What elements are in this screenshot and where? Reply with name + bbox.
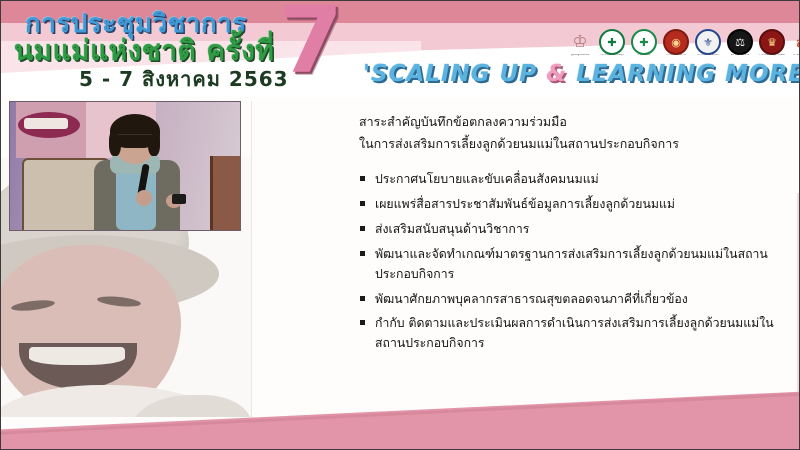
child-teeth [29, 347, 125, 365]
logo-caption: กระทรวงแรงงาน [663, 54, 689, 57]
logo-glyph: ⚜ [695, 29, 721, 55]
square-bullet-icon [360, 201, 365, 206]
conference-header-banner: 7 การประชุมวิชาการ นมแม่แห่งชาติ ครั้งที… [1, 1, 800, 97]
speaker-hand-left [136, 190, 152, 206]
logo-caption: กระทรวงมหาดไทย [695, 54, 721, 57]
speaker-glasses [118, 134, 152, 142]
list-item: เผยแพร่สื่อสารประชาสัมพันธ์ข้อมูลการเลี้… [359, 195, 779, 215]
list-item: พัฒนาและจัดทำเกณฑ์มาตรฐานการส่งเสริมการเ… [359, 245, 779, 285]
logo-ministry-public-health-icon: ✚กระทรวงสาธารณสุข [599, 28, 625, 56]
tagline-prefix: 'SCALING UP [363, 61, 546, 87]
conference-dates: 5 - 7 สิงหาคม 2563 [79, 63, 289, 95]
tagline-suffix: LEARNING MORE' [567, 61, 800, 87]
slide-canvas: สาระสำคัญบันทึกข้อตกลงความร่วมมือ ในการส… [1, 97, 800, 450]
armchair-right [210, 156, 241, 231]
logo-garuda-blue-icon: ⚜กระทรวงมหาดไทย [695, 28, 721, 56]
logo-caption: มูลนิธิศูนย์นมแม่ [567, 54, 593, 57]
list-item-text: เผยแพร่สื่อสารประชาสัมพันธ์ข้อมูลการเลี้… [375, 197, 675, 211]
logo-caption: ราชวิทยาลัยกุมารแพทย์ [759, 54, 785, 57]
list-item-text: ส่งเสริมสนับสนุนด้านวิชาการ [375, 222, 529, 236]
list-item: พัฒนาศักยภาพบุคลากรสาธารณสุขตลอดจนภาคีที… [359, 290, 779, 310]
vertical-divider [251, 101, 252, 419]
list-item-text: พัฒนาศักยภาพบุคลากรสาธารณสุขตลอดจนภาคีที… [375, 292, 688, 306]
intro-line-1: สาระสำคัญบันทึกข้อตกลงความร่วมมือ [359, 111, 779, 133]
presenter-clicker [172, 194, 186, 204]
list-item-text: พัฒนาและจัดทำเกณฑ์มาตรฐานการส่งเสริมการเ… [375, 247, 768, 281]
list-item: ส่งเสริมสนับสนุนด้านวิชาการ [359, 220, 779, 240]
logo-royal-patronage-icon: ♔มูลนิธิศูนย์นมแม่ [567, 28, 593, 56]
intro-line-2: ในการส่งเสริมการเลี้ยงลูกด้วยนมแม่ในสถาน… [359, 133, 779, 155]
square-bullet-icon [360, 251, 365, 256]
logo-caption: กรมอนามัย [631, 54, 657, 57]
square-bullet-icon [360, 320, 365, 325]
logo-glyph: สสส [796, 32, 800, 53]
bullet-list: ประกาศนโยบายและขับเคลื่อนสังคมนมแม่ เผยแ… [359, 170, 779, 354]
logo-caption: สภาการพยาบาล [727, 54, 753, 57]
logo-crest-maroon-icon: ♛ราชวิทยาลัยกุมารแพทย์ [759, 28, 785, 56]
logo-glyph: ✚ [599, 29, 625, 55]
square-bullet-icon [360, 296, 365, 301]
sponsor-logo-row: ♔มูลนิธิศูนย์นมแม่ ✚กระทรวงสาธารณสุข ✚กร… [567, 27, 800, 57]
logo-glyph: ♛ [759, 29, 785, 55]
logo-caption: กระทรวงสาธารณสุข [599, 54, 625, 57]
speaker-video-inset[interactable] [9, 101, 241, 231]
square-bullet-icon [360, 176, 365, 181]
conference-tagline: 'SCALING UP & LEARNING MORE' [363, 61, 800, 87]
logo-department-health-icon: ✚กรมอนามัย [631, 28, 657, 56]
logo-glyph: ♔ [569, 31, 591, 53]
logo-glyph: ✚ [631, 29, 657, 55]
slide-text-content: สาระสำคัญบันทึกข้อตกลงความร่วมมือ ในการส… [359, 111, 779, 359]
logo-thai-emblem-red-icon: ◉กระทรวงแรงงาน [663, 28, 689, 56]
poster-teeth [24, 118, 68, 129]
logo-caption: สำนักงานกองทุนสนับสนุน [791, 54, 800, 57]
presentation-slide: 7 การประชุมวิชาการ นมแม่แห่งชาติ ครั้งที… [0, 0, 800, 450]
list-item-text: กำกับ ติดตามและประเมินผลการดำเนินการส่งเ… [375, 316, 774, 350]
list-item: กำกับ ติดตามและประเมินผลการดำเนินการส่งเ… [359, 314, 779, 354]
list-item: ประกาศนโยบายและขับเคลื่อนสังคมนมแม่ [359, 170, 779, 190]
logo-glyph: ◉ [663, 29, 689, 55]
list-item-text: ประกาศนโยบายและขับเคลื่อนสังคมนมแม่ [375, 172, 599, 186]
logo-glyph: ⚖ [727, 29, 753, 55]
logo-black-circle-icon: ⚖สภาการพยาบาล [727, 28, 753, 56]
tagline-ampersand: & [546, 61, 567, 87]
square-bullet-icon [360, 226, 365, 231]
logo-thaihealth-icon: สสสสำนักงานกองทุนสนับสนุน [791, 28, 800, 56]
intro-paragraph: สาระสำคัญบันทึกข้อตกลงความร่วมมือ ในการส… [359, 111, 779, 154]
